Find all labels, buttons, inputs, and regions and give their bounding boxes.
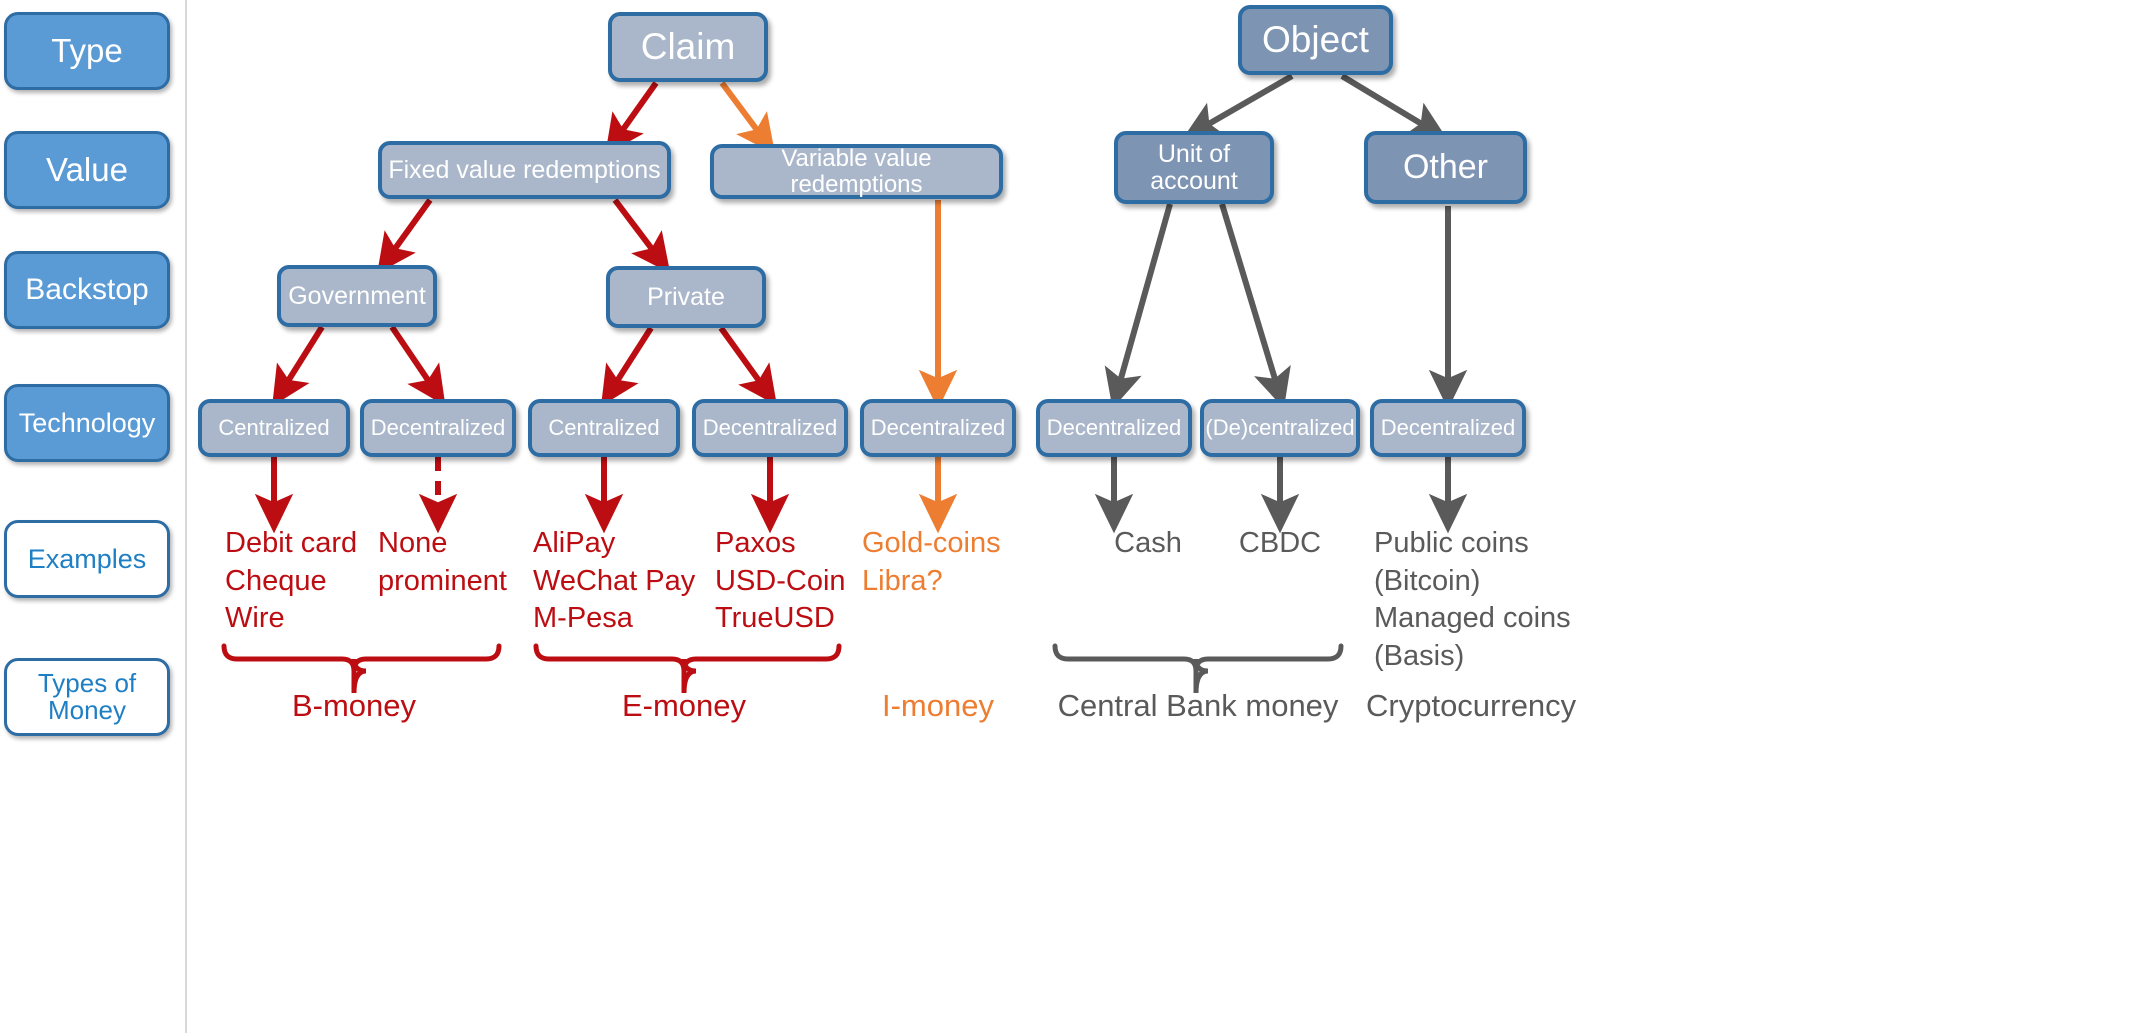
node-tech-decentralized-5[interactable]: Decentralized [1370,399,1526,457]
arrow-claim-to-variable [722,83,763,138]
rail-item-label: Backstop [25,274,148,306]
node-label: Centralized [548,416,659,440]
arrow-government-to-centralized [283,327,322,389]
rail-divider [185,0,187,1033]
rail-item-label: Value [46,153,128,188]
examples-cryptocurrency: Public coins (Bitcoin) Managed coins (Ba… [1374,525,1604,676]
node-unit-of-account[interactable]: Unit of account [1114,131,1274,204]
node-tech-decentralized-2[interactable]: Decentralized [692,399,848,457]
node-label: Decentralized [1381,416,1516,440]
arrow-unit-to-decentralized-cbdc [1222,204,1278,389]
node-claim[interactable]: Claim [608,12,768,82]
brace-b-money [224,646,499,693]
money-type-cryptocurrency: Cryptocurrency [1366,688,1616,724]
node-label: Government [288,283,426,310]
node-tech-decentralized-4[interactable]: Decentralized [1036,399,1192,457]
rail-item-types-of-money[interactable]: Types of Money [4,658,170,736]
brace-e-money [536,646,839,693]
examples-b-money-centralized: Debit card Cheque Wire [225,525,385,638]
arrow-fixed-to-government [389,200,430,257]
examples-e-money-decentralized: Paxos USD-Coin TrueUSD [715,525,885,638]
node-tech-centralized-2[interactable]: Centralized [528,399,680,457]
examples-cash: Cash [1083,525,1213,563]
money-type-e-money: E-money [584,688,784,724]
arrow-private-to-centralized [612,328,651,389]
money-type-central-bank-money: Central Bank money [1048,688,1348,724]
node-other[interactable]: Other [1364,131,1527,204]
examples-i-money: Gold-coins Libra? [862,525,1022,600]
node-private[interactable]: Private [606,266,766,328]
rail-item-label: Examples [28,545,147,573]
node-label: Claim [641,27,736,67]
money-type-i-money: I-money [838,688,1038,724]
brace-central-bank-money [1055,646,1341,693]
node-tech-decentralized-1[interactable]: Decentralized [360,399,516,457]
node-label: Decentralized [1047,416,1182,440]
diagram-canvas: Type Value Backstop Technology Examples … [0,0,2145,1033]
node-label: Private [647,284,725,311]
arrow-government-to-decentralized [392,327,434,389]
node-fixed-value-redemptions[interactable]: Fixed value redemptions [378,141,671,199]
node-label: Fixed value redemptions [388,157,660,184]
node-label: Variable value redemptions [714,146,999,198]
examples-cbdc: CBDC [1215,525,1345,563]
connector-layer [0,0,2145,1033]
node-label: Unit of account [1150,141,1238,195]
arrow-claim-to-fixed [617,83,656,138]
node-label: Centralized [218,416,329,440]
examples-b-money-decentralized: None prominent [378,525,538,600]
money-type-b-money: B-money [254,688,454,724]
rail-item-value[interactable]: Value [4,131,170,209]
rail-item-backstop[interactable]: Backstop [4,251,170,329]
node-object[interactable]: Object [1238,5,1393,75]
rail-item-type[interactable]: Type [4,12,170,90]
node-tech-de-centralized[interactable]: (De)centralized [1200,399,1360,457]
node-label: Decentralized [871,416,1006,440]
rail-item-label: Type [51,34,123,69]
arrow-fixed-to-private [615,200,658,257]
node-label: Object [1262,20,1369,60]
node-label: (De)centralized [1205,416,1354,440]
arrow-private-to-decentralized [721,328,765,389]
node-label: Other [1403,149,1488,186]
node-government[interactable]: Government [277,265,437,327]
rail-item-label: Types of Money [38,670,136,725]
node-label: Decentralized [371,416,506,440]
rail-item-examples[interactable]: Examples [4,520,170,598]
rail-item-label: Technology [19,409,156,437]
rail-item-technology[interactable]: Technology [4,384,170,462]
arrow-object-to-other [1342,76,1430,129]
node-tech-centralized-1[interactable]: Centralized [198,399,350,457]
arrow-unit-to-decentralized [1118,204,1170,389]
arrow-object-to-unit-of-account [1200,76,1292,129]
examples-e-money-centralized: AliPay WeChat Pay M-Pesa [533,525,718,638]
node-tech-decentralized-3[interactable]: Decentralized [860,399,1016,457]
node-variable-value-redemptions[interactable]: Variable value redemptions [710,144,1003,199]
node-label: Decentralized [703,416,838,440]
